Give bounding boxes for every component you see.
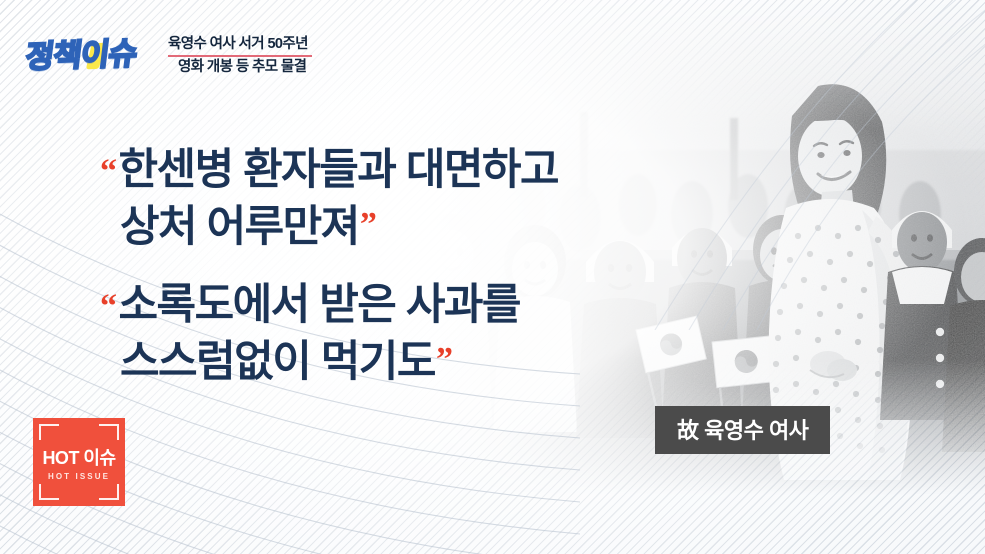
broadcast-graphic-frame: 정책이슈 육영수 여사 서거 50주년 영화 개봉 등 추모 물결 “한센병 환… [0,0,985,554]
photo-caption: 故 육영수 여사 [655,406,830,454]
quote-block-2: “소록도에서 받은 사과를 스스럼없이 먹기도” [100,277,520,391]
program-logo: 정책이슈 [23,31,173,80]
quote-close-mark-2: ” [436,341,452,378]
hot-issue-badge-title: HOT 이슈 [33,449,125,467]
quote-open-mark-2: “ [100,288,116,325]
quote-2-line-2: 스스럼없이 먹기도” [100,334,520,391]
headline: 육영수 여사 서거 50주년 영화 개봉 등 추모 물결 [168,36,368,76]
quote-1-line-2-text: 상처 어루만져 [120,203,359,251]
quote-1-line-1-text: 한센병 환자들과 대면하고 [119,146,559,194]
quote-1-line-2: 상처 어루만져” [100,199,558,256]
quote-close-mark-1: ” [360,206,376,243]
program-logo-text: 정책이슈 [23,31,173,80]
headline-divider [168,55,312,57]
quote-2-line-1: “소록도에서 받은 사과를 [100,277,520,334]
headline-line-2: 영화 개봉 등 추모 물결 [168,59,368,76]
quote-2-line-2-text: 스스럼없이 먹기도 [120,338,435,386]
decorative-arc-pattern-right [615,0,985,330]
quote-1-line-1: “한센병 환자들과 대면하고 [100,142,558,199]
quote-open-mark-1: “ [100,153,116,190]
hot-issue-badge: HOT 이슈 HOT ISSUE [33,418,125,506]
quote-2-line-1-text: 소록도에서 받은 사과를 [119,281,521,329]
hot-issue-badge-subtitle: HOT ISSUE [33,472,125,482]
quote-block-1: “한센병 환자들과 대면하고 상처 어루만져” [100,142,558,256]
headline-line-1: 육영수 여사 서거 50주년 [168,36,368,53]
